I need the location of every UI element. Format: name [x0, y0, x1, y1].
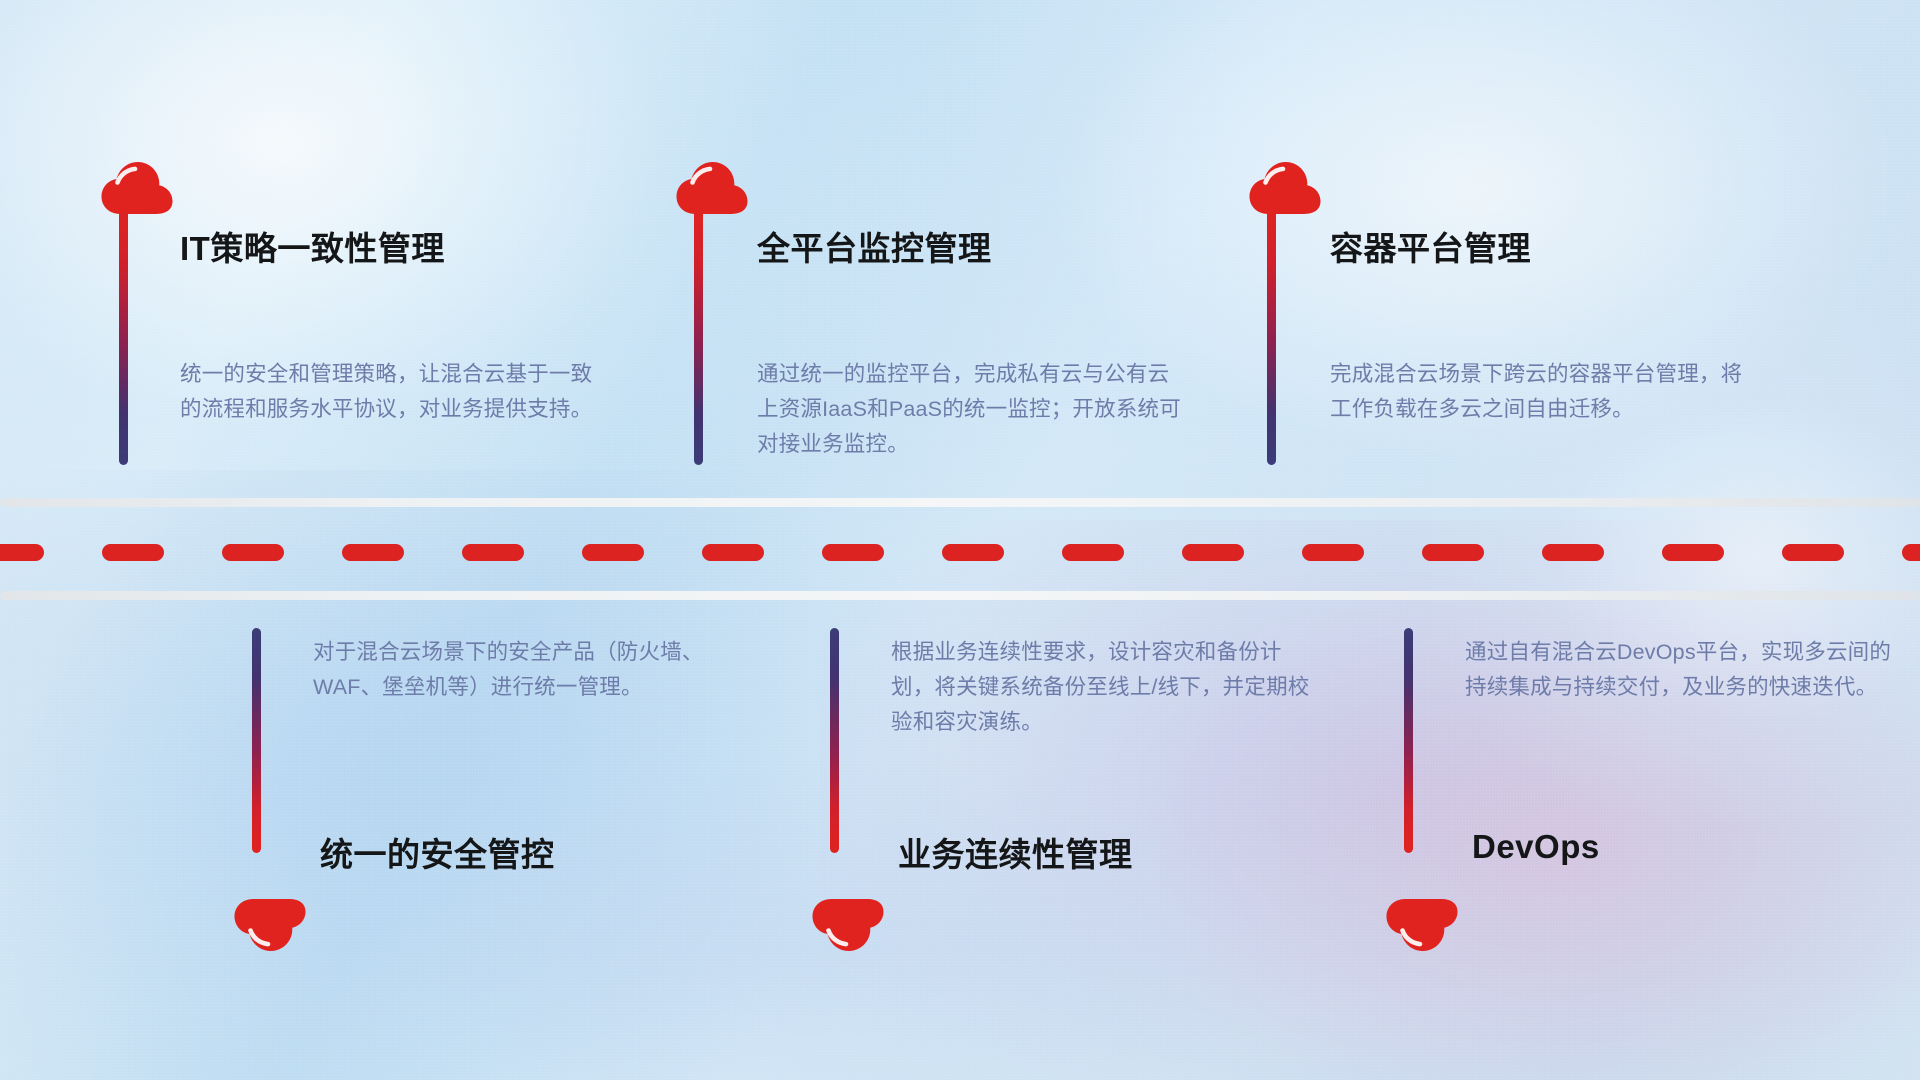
road-dash: [1902, 544, 1920, 561]
item-description: 完成混合云场景下跨云的容器平台管理，将工作负载在多云之间自由迁移。: [1330, 357, 1760, 427]
road-dash: [342, 544, 404, 561]
item-description: 统一的安全和管理策略，让混合云基于一致的流程和服务水平协议，对业务提供支持。: [180, 357, 610, 427]
timeline-bar: [1404, 628, 1413, 853]
road-dash: [222, 544, 284, 561]
road-dash: [1422, 544, 1484, 561]
item-heading: 统一的安全管控: [320, 828, 555, 876]
road-dash: [1182, 544, 1244, 561]
road-dash: [582, 544, 644, 561]
road-rail-top: [0, 498, 1920, 507]
road-dash: [102, 544, 164, 561]
item-heading: 全平台监控管理: [757, 222, 992, 270]
road-dash: [1662, 544, 1724, 561]
item-description: 根据业务连续性要求，设计容灾和备份计划，将关键系统备份至线上/线下，并定期校验和…: [891, 635, 1321, 740]
infographic-canvas: IT策略一致性管理 统一的安全和管理策略，让混合云基于一致的流程和服务水平协议，…: [0, 0, 1920, 1080]
timeline-bar: [1267, 208, 1276, 465]
item-heading: IT策略一致性管理: [180, 222, 445, 270]
road-dash: [702, 544, 764, 561]
road-rail-bottom: [0, 591, 1920, 600]
road-dash: [462, 544, 524, 561]
road-dash: [1782, 544, 1844, 561]
item-description: 通过统一的监控平台，完成私有云与公有云上资源IaaS和PaaS的统一监控；开放系…: [757, 357, 1187, 462]
timeline-bar: [252, 628, 261, 853]
road-dash: [822, 544, 884, 561]
item-description: 对于混合云场景下的安全产品（防火墙、WAF、堡垒机等）进行统一管理。: [313, 635, 743, 705]
road-dash: [1542, 544, 1604, 561]
item-description: 通过自有混合云DevOps平台，实现多云间的持续集成与持续交付，及业务的快速迭代…: [1465, 635, 1895, 705]
item-heading: DevOps: [1472, 828, 1600, 866]
road-dash: [942, 544, 1004, 561]
timeline-bar: [830, 628, 839, 853]
item-heading: 容器平台管理: [1330, 222, 1531, 270]
road-dashed-centerline: [0, 544, 1920, 561]
road-dash: [1062, 544, 1124, 561]
timeline-bar: [119, 208, 128, 465]
item-heading: 业务连续性管理: [898, 828, 1133, 876]
road-dash: [0, 544, 44, 561]
road-dash: [1302, 544, 1364, 561]
timeline-bar: [694, 208, 703, 465]
